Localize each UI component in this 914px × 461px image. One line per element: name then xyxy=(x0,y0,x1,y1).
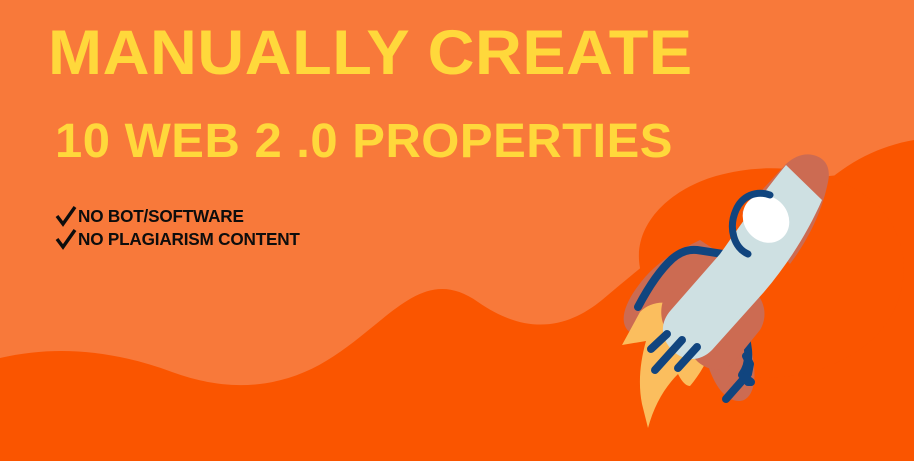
list-item: NO BOT/SOFTWARE xyxy=(55,205,304,228)
check-icon xyxy=(55,205,77,228)
check-icon xyxy=(55,228,77,251)
page-subtitle: 10 WEB 2 .0 PROPERTIES xyxy=(55,118,673,166)
feature-label: NO PLAGIARISM CONTENT xyxy=(78,231,300,249)
page-title: MANUALLY CREATE xyxy=(48,22,693,85)
feature-label: NO BOT/SOFTWARE xyxy=(78,208,244,226)
feature-list: NO BOT/SOFTWARE NO PLAGIARISM CONTENT xyxy=(55,205,304,251)
list-item: NO PLAGIARISM CONTENT xyxy=(55,228,304,251)
text-layer: MANUALLY CREATE 10 WEB 2 .0 PROPERTIES N… xyxy=(0,0,914,461)
promo-banner: MANUALLY CREATE 10 WEB 2 .0 PROPERTIES N… xyxy=(0,0,914,461)
